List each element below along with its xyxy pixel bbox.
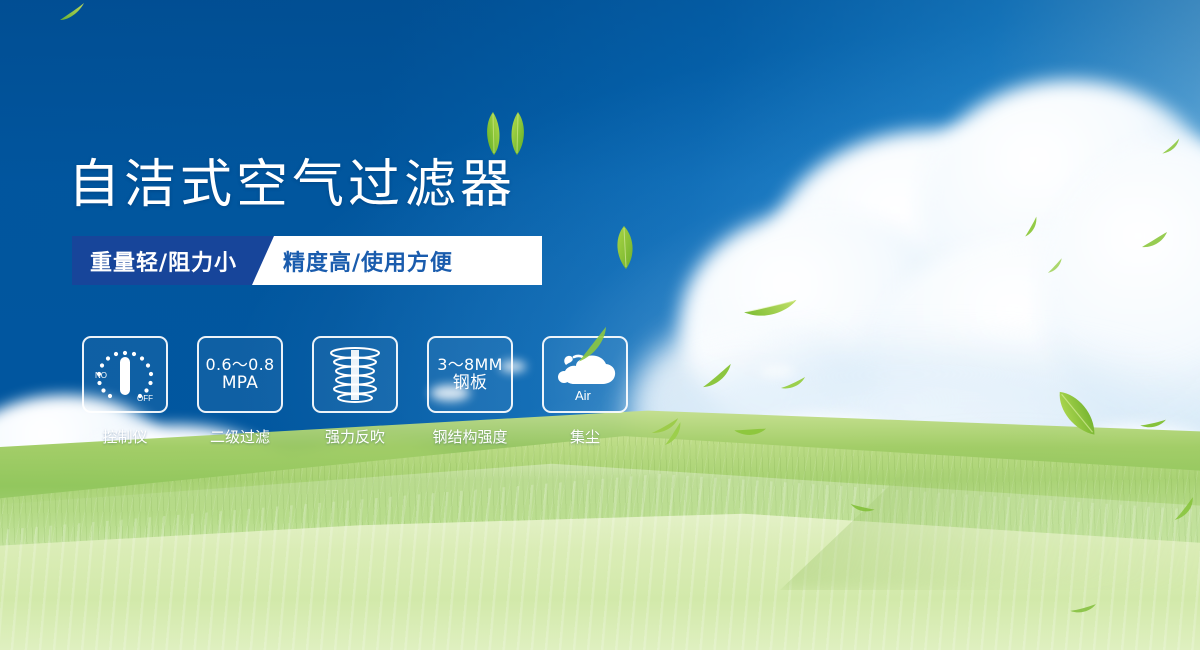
feature-list: NO OFF 控制仪 0.6〜0.8 MPA 二级过滤 <box>82 336 628 447</box>
feature-label: 控制仪 <box>102 426 147 447</box>
coil-filter-icon <box>324 344 386 406</box>
feature-label: 强力反吹 <box>325 426 385 447</box>
feature-label: 集尘 <box>570 426 600 447</box>
page-title: 自洁式空气过滤器 <box>68 142 516 217</box>
feature-text-line2: MPA <box>206 374 275 393</box>
steel-plate-icon: 3〜8MM 钢板 <box>437 356 502 393</box>
pressure-value-icon: 0.6〜0.8 MPA <box>206 356 275 393</box>
feature-icon-box: 3〜8MM 钢板 <box>427 336 513 413</box>
subtitle-right-text: 精度高/使用方便 <box>283 236 453 285</box>
feature-item-dust[interactable]: Air 集尘 <box>542 336 628 447</box>
feature-icon-box: NO OFF <box>82 336 168 413</box>
feature-text-line2: Air <box>575 388 592 403</box>
feature-icon-box <box>312 336 398 413</box>
feature-item-pressure[interactable]: 0.6〜0.8 MPA 二级过滤 <box>197 336 283 447</box>
feature-item-controller[interactable]: NO OFF 控制仪 <box>82 336 168 447</box>
feature-label: 二级过滤 <box>210 426 270 447</box>
subtitle-bar: 重量轻/阻力小 精度高/使用方便 <box>72 236 464 285</box>
feature-label: 钢结构强度 <box>432 426 507 447</box>
feature-text-line2: 钢板 <box>437 374 502 393</box>
feature-text-line1: 3〜8MM <box>437 356 502 374</box>
feature-item-blowback[interactable]: 强力反吹 <box>312 336 398 447</box>
dial-no-label: NO <box>95 371 107 380</box>
feature-text-line1: 0.6〜0.8 <box>206 356 275 374</box>
feature-item-steel[interactable]: 3〜8MM 钢板 钢结构强度 <box>427 336 513 447</box>
dial-gauge-icon: NO OFF <box>89 343 161 407</box>
sprout-leaves-icon <box>470 110 540 156</box>
dial-off-label: OFF <box>137 394 153 403</box>
air-cloud-icon: Air <box>550 344 620 406</box>
product-banner: 自洁式空气过滤器 重量轻/阻力小 精度高/使用方便 <box>0 0 1200 650</box>
feature-icon-box: 0.6〜0.8 MPA <box>197 336 283 413</box>
subtitle-left-text: 重量轻/阻力小 <box>90 236 237 285</box>
feature-icon-box: Air <box>542 336 628 413</box>
